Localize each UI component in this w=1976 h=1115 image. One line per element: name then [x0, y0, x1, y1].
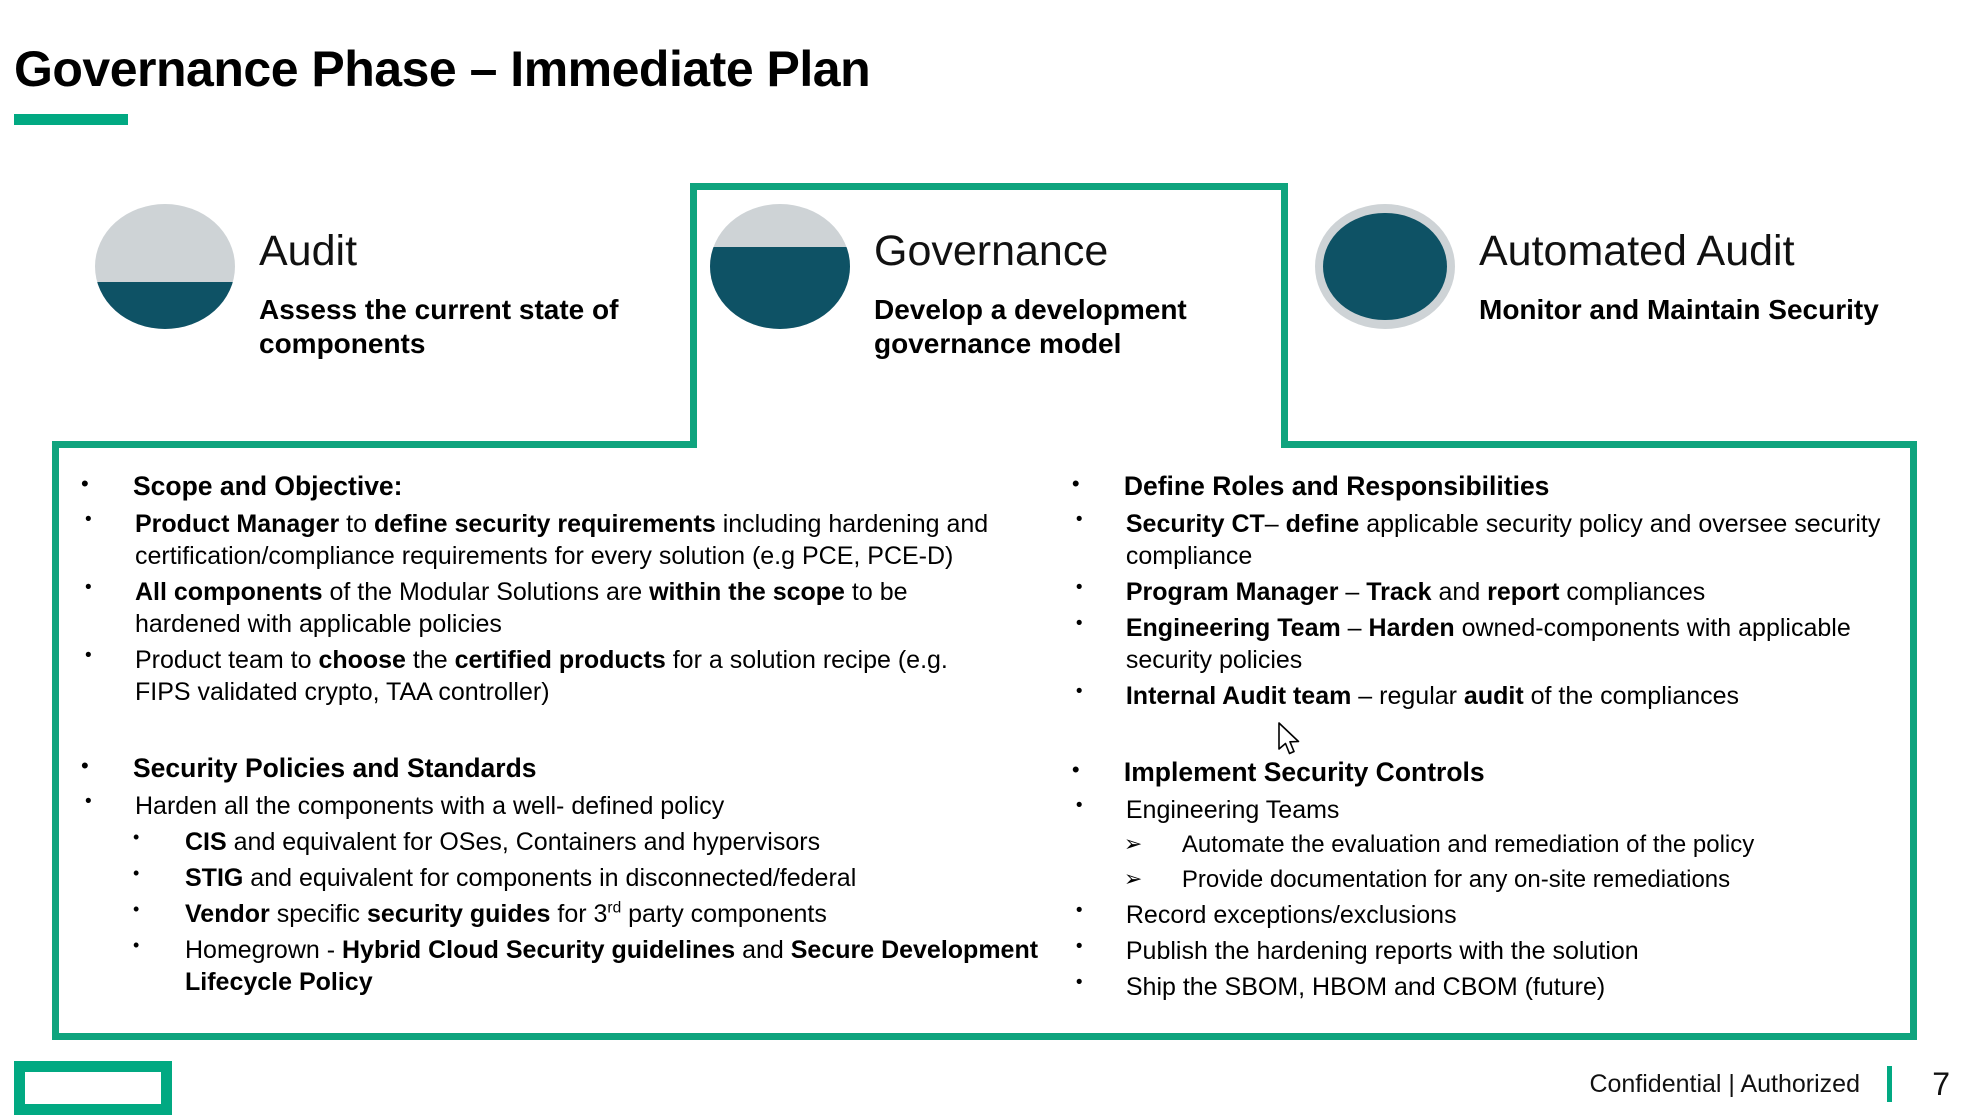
circle-fill: [95, 282, 235, 330]
right-column: • Define Roles and Responsibilities • Se…: [1052, 448, 1910, 1033]
list-item: • Engineering Teams: [1062, 794, 1900, 826]
phase-card-automated-audit: Automated Audit Monitor and Maintain Sec…: [1315, 200, 1879, 329]
list-item-text: Homegrown - Hybrid Cloud Security guidel…: [185, 934, 1042, 998]
list-item: • Internal Audit team – regular audit of…: [1062, 680, 1900, 712]
list-item: • CIS and equivalent for OSes, Container…: [71, 826, 1042, 858]
footer-separator: [1887, 1066, 1892, 1102]
full-filled-circle-icon: [1315, 204, 1455, 329]
list-item: • Product team to choose the certified p…: [71, 644, 1042, 708]
list-item: • Record exceptions/exclusions: [1062, 899, 1900, 931]
phase-desc-audit: Assess the current state of components: [259, 293, 679, 362]
list-item-text: CIS and equivalent for OSes, Containers …: [185, 826, 1042, 858]
list-item-text: All components of the Modular Solutions …: [135, 576, 995, 640]
list-item: • STIG and equivalent for components in …: [71, 862, 1042, 894]
list-item: • Publish the hardening reports with the…: [1062, 935, 1900, 967]
list-item: • Security CT– define applicable securit…: [1062, 508, 1900, 572]
list-item-text: Harden all the components with a well- d…: [135, 790, 995, 822]
list-item: • Ship the SBOM, HBOM and CBOM (future): [1062, 971, 1900, 1003]
frame-merge-mask: [697, 437, 1281, 451]
bullet-marker: •: [71, 470, 133, 498]
phase-desc-automated-audit: Monitor and Maintain Security: [1479, 293, 1879, 327]
bullet-marker: •: [1062, 756, 1124, 784]
bullet-marker: •: [1062, 971, 1126, 995]
phase-text-block: Audit Assess the current state of compon…: [259, 200, 679, 362]
section-heading: Security Policies and Standards: [133, 752, 1042, 786]
list-item-text: Engineering Team – Harden owned-componen…: [1126, 612, 1900, 676]
list-item: • Scope and Objective:: [71, 470, 1042, 504]
content-panel: • Scope and Objective: • Product Manager…: [52, 441, 1917, 1040]
half-filled-circle-icon: [95, 204, 235, 329]
list-item-text: Product Manager to define security requi…: [135, 508, 995, 572]
bullet-marker: •: [71, 826, 185, 849]
list-item: • Implement Security Controls: [1062, 756, 1900, 790]
bullet-marker: •: [71, 862, 185, 885]
list-item: • Harden all the components with a well-…: [71, 790, 1042, 822]
bullet-marker: •: [1062, 470, 1124, 498]
bullet-marker: •: [1062, 508, 1126, 532]
list-item: • Product Manager to define security req…: [71, 508, 1042, 572]
section-heading: Define Roles and Responsibilities: [1124, 470, 1900, 504]
list-item-text: Automate the evaluation and remediation …: [1182, 830, 1900, 861]
list-item: • Homegrown - Hybrid Cloud Security guid…: [71, 934, 1042, 998]
list-item: • Security Policies and Standards: [71, 752, 1042, 786]
bullet-marker: •: [1062, 899, 1126, 923]
bullet-marker: •: [71, 752, 133, 780]
list-item-text: Program Manager – Track and report compl…: [1126, 576, 1900, 608]
title-underline-accent: [14, 114, 128, 125]
list-item: • Define Roles and Responsibilities: [1062, 470, 1900, 504]
list-item-text: Publish the hardening reports with the s…: [1126, 935, 1900, 967]
bullet-marker: •: [1062, 794, 1126, 818]
section-heading: Scope and Objective:: [133, 470, 1042, 504]
list-item-text: Ship the SBOM, HBOM and CBOM (future): [1126, 971, 1900, 1003]
bullet-marker: •: [1062, 680, 1126, 704]
left-column-list: • Scope and Objective: • Product Manager…: [71, 470, 1042, 998]
bullet-marker: •: [71, 898, 185, 921]
page-number: 7: [1932, 1066, 1950, 1103]
list-item-text: Internal Audit team – regular audit of t…: [1126, 680, 1900, 712]
section-spacer: [1062, 712, 1900, 756]
phase-name-automated-audit: Automated Audit: [1479, 230, 1879, 273]
content-columns: • Scope and Objective: • Product Manager…: [59, 448, 1910, 1033]
list-item-text: Provide documentation for any on-site re…: [1182, 865, 1900, 896]
list-item-text: Vendor specific security guides for 3rd …: [185, 898, 1042, 930]
phase-name-audit: Audit: [259, 230, 679, 273]
list-item: • All components of the Modular Solution…: [71, 576, 1042, 640]
page-title: Governance Phase – Immediate Plan: [14, 40, 870, 98]
left-column: • Scope and Objective: • Product Manager…: [59, 448, 1052, 1033]
bullet-marker: •: [1062, 935, 1126, 959]
circle-fill: [1323, 213, 1446, 321]
list-item-text: STIG and equivalent for components in di…: [185, 862, 1042, 894]
list-item: • Program Manager – Track and report com…: [1062, 576, 1900, 608]
arrow-bullet-icon: ➢: [1062, 865, 1182, 893]
footer-classification: Confidential | Authorized: [1589, 1070, 1860, 1099]
list-item-text: Product team to choose the certified pro…: [135, 644, 995, 708]
bullet-marker: •: [1062, 576, 1126, 600]
phase-text-block: Automated Audit Monitor and Maintain Sec…: [1479, 200, 1879, 327]
section-spacer: [71, 708, 1042, 752]
arrow-bullet-icon: ➢: [1062, 830, 1182, 858]
section-heading: Implement Security Controls: [1124, 756, 1900, 790]
governance-highlight-frame: [690, 183, 1288, 450]
list-item: • Vendor specific security guides for 3r…: [71, 898, 1042, 930]
list-item: ➢ Provide documentation for any on-site …: [1062, 865, 1900, 896]
list-item: ➢ Automate the evaluation and remediatio…: [1062, 830, 1900, 861]
bullet-marker: •: [1062, 612, 1126, 636]
bullet-marker: •: [71, 576, 135, 600]
bullet-marker: •: [71, 508, 135, 532]
list-item-text: Record exceptions/exclusions: [1126, 899, 1900, 931]
list-item-text: Engineering Teams: [1126, 794, 1900, 826]
bullet-marker: •: [71, 644, 135, 668]
list-item-text: Security CT– define applicable security …: [1126, 508, 1900, 572]
list-item: • Engineering Team – Harden owned-compon…: [1062, 612, 1900, 676]
bullet-marker: •: [71, 790, 135, 814]
bullet-marker: •: [71, 934, 185, 957]
phase-card-audit: Audit Assess the current state of compon…: [95, 200, 679, 362]
right-column-list: • Define Roles and Responsibilities • Se…: [1062, 470, 1900, 1003]
